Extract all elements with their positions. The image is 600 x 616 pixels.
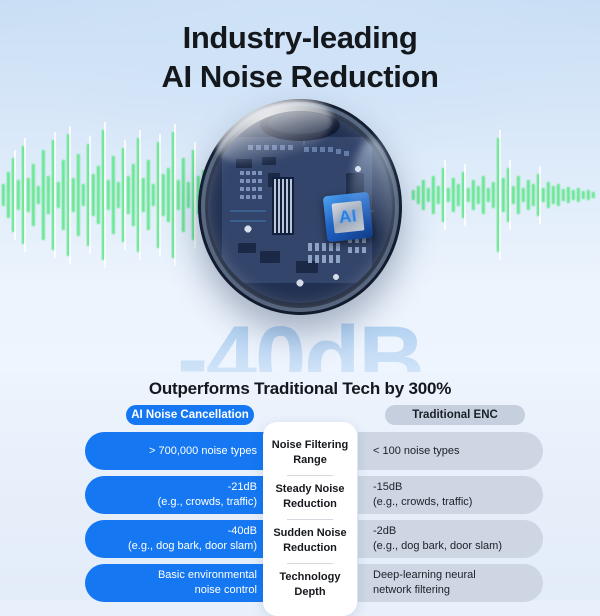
- metric-line-1: Noise Filtering: [272, 438, 348, 453]
- cell-text: (e.g., crowds, traffic): [99, 495, 257, 510]
- header-ai-noise-cancellation: AI Noise Cancellation: [126, 405, 254, 425]
- comparison-subtitle: Outperforms Traditional Tech by 300%: [0, 372, 600, 399]
- metric-line-2: Reduction: [283, 541, 337, 556]
- comparison-column-left: > 700,000 noise types -21dB (e.g., crowd…: [85, 432, 270, 602]
- metric-line-2: Reduction: [283, 497, 337, 512]
- comparison-metric-card: Noise Filtering Range Steady Noise Reduc…: [263, 422, 357, 616]
- cell-text: Deep-learning neural: [373, 568, 531, 583]
- earbud-shell: AI: [198, 99, 402, 315]
- table-row: > 700,000 noise types: [85, 432, 270, 470]
- table-row: Deep-learning neural network filtering: [358, 564, 543, 602]
- metric-line-1: Technology: [280, 570, 341, 585]
- table-row: < 100 noise types: [358, 432, 543, 470]
- cell-text: < 100 noise types: [373, 444, 531, 459]
- cell-text: -40dB: [99, 524, 257, 539]
- table-row: -21dB (e.g., crowds, traffic): [85, 476, 270, 514]
- comparison-column-right: < 100 noise types -15dB (e.g., crowds, t…: [358, 432, 543, 602]
- cell-text: > 700,000 noise types: [99, 444, 257, 459]
- header-traditional-enc: Traditional ENC: [385, 405, 525, 425]
- metric-label: Steady Noise Reduction: [269, 478, 351, 516]
- table-row: -15dB (e.g., crowds, traffic): [358, 476, 543, 514]
- comparison-table: > 700,000 noise types -21dB (e.g., crowd…: [0, 432, 600, 602]
- metric-line-2: Depth: [294, 585, 325, 600]
- comparison-section: Outperforms Traditional Tech by 300% AI …: [0, 372, 600, 600]
- metric-line-2: Range: [293, 453, 327, 468]
- metric-line-1: Sudden Noise: [273, 526, 346, 541]
- page-title: Industry-leading AI Noise Reduction: [0, 18, 600, 96]
- cell-text: (e.g., dog bark, door slam): [99, 539, 257, 554]
- cell-text: (e.g., dog bark, door slam): [373, 539, 531, 554]
- cell-text: -21dB: [99, 480, 257, 495]
- metric-label: Technology Depth: [269, 566, 351, 604]
- table-row: -40dB (e.g., dog bark, door slam): [85, 520, 270, 558]
- title-line-1: Industry-leading: [0, 18, 600, 57]
- cell-text: noise control: [99, 583, 257, 598]
- title-line-2: AI Noise Reduction: [0, 57, 600, 96]
- metric-label: Sudden Noise Reduction: [269, 522, 351, 560]
- cell-text: -2dB: [373, 524, 531, 539]
- cell-text: -15dB: [373, 480, 531, 495]
- earbud-rim: [201, 102, 399, 312]
- hero-section: -40dB: [0, 0, 600, 372]
- metric-label: Noise Filtering Range: [269, 434, 351, 472]
- cell-text: (e.g., crowds, traffic): [373, 495, 531, 510]
- watermark-minus-40db: -40dB: [177, 313, 423, 372]
- cell-text: Basic environmental: [99, 568, 257, 583]
- earbud-product-image: AI: [198, 99, 402, 315]
- table-row: Basic environmental noise control: [85, 564, 270, 602]
- table-row: -2dB (e.g., dog bark, door slam): [358, 520, 543, 558]
- cell-text: network filtering: [373, 583, 531, 598]
- metric-line-1: Steady Noise: [275, 482, 344, 497]
